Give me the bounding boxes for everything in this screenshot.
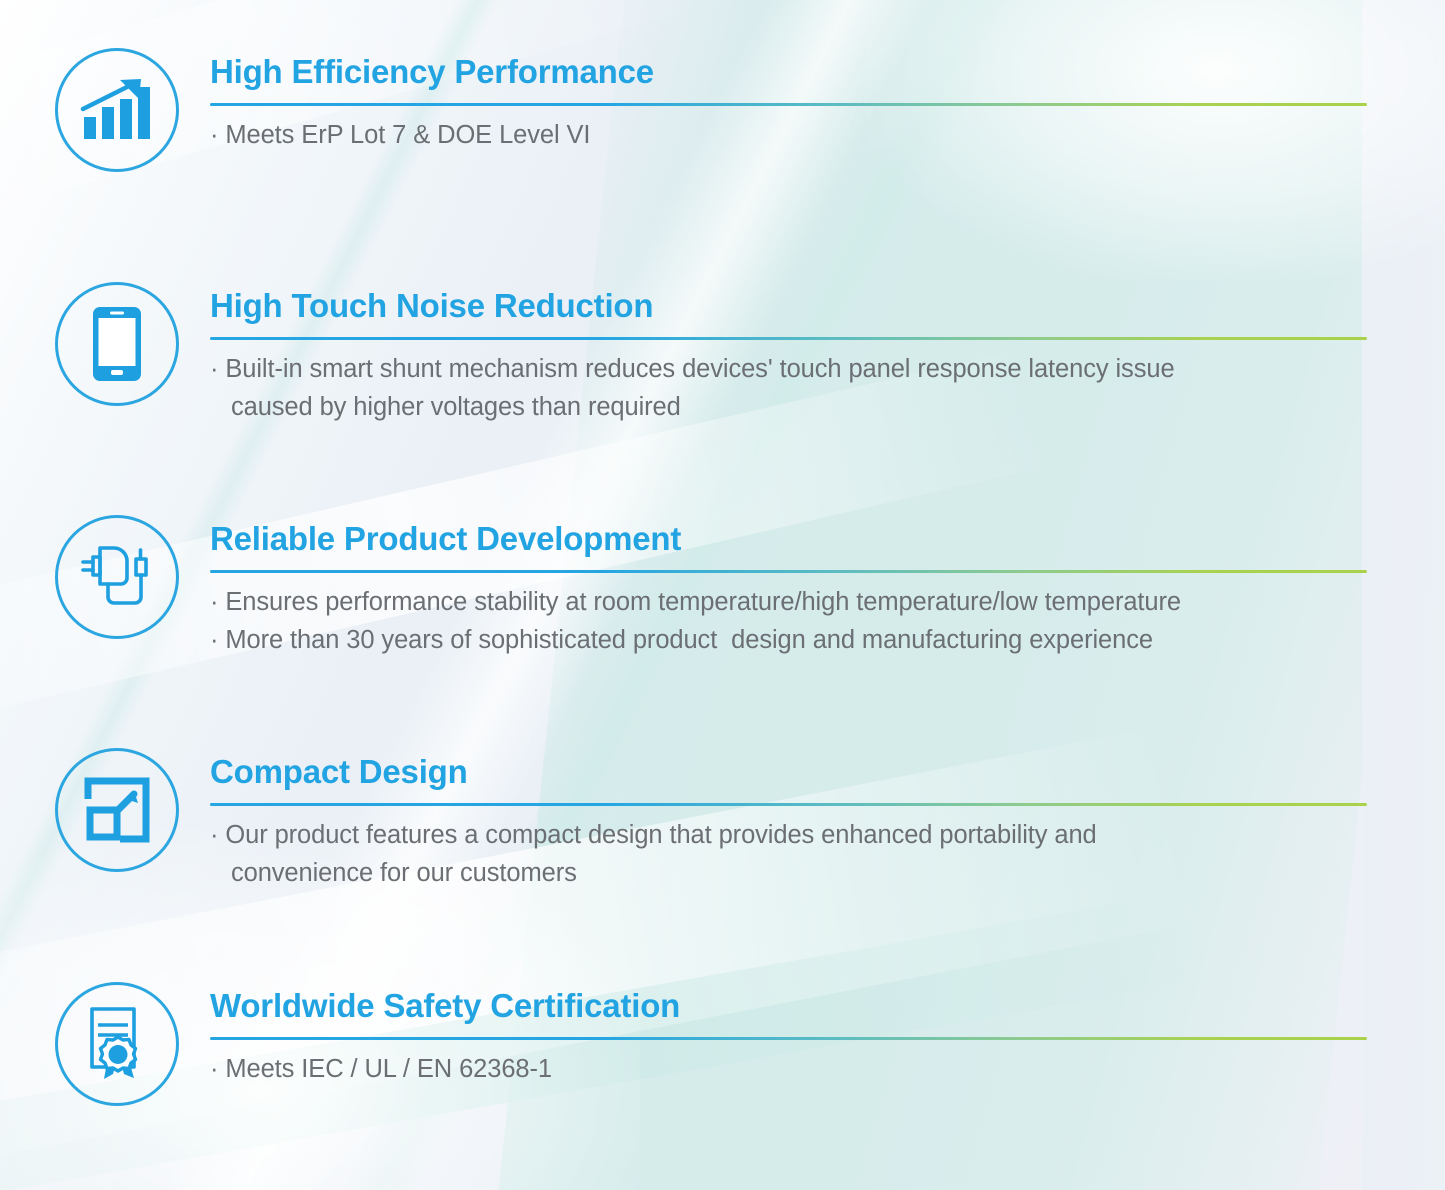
- feature-bullets: · Built-in smart shunt mechanism reduces…: [210, 351, 1367, 427]
- bullet-line: · Meets IEC / UL / EN 62368-1: [210, 1051, 1367, 1089]
- bullet-line: · Meets ErP Lot 7 & DOE Level VI: [210, 117, 1367, 155]
- feature-divider: [210, 570, 1367, 573]
- feature-divider: [210, 337, 1367, 340]
- feature-title: Reliable Product Development: [210, 521, 1367, 558]
- feature-bullets: · Meets ErP Lot 7 & DOE Level VI: [210, 117, 1367, 155]
- feature-item-worldwide-safety-certification: Worldwide Safety Certification · Meets I…: [0, 982, 1445, 1106]
- feature-divider: [210, 803, 1367, 806]
- bullet-line: · Ensures performance stability at room …: [210, 584, 1367, 622]
- smartphone-icon: [55, 282, 179, 406]
- feature-body: Reliable Product Development · Ensures p…: [210, 515, 1445, 660]
- feature-bullets: · Meets IEC / UL / EN 62368-1: [210, 1051, 1367, 1089]
- feature-bullets: · Our product features a compact design …: [210, 817, 1367, 893]
- feature-body: Worldwide Safety Certification · Meets I…: [210, 982, 1445, 1089]
- bullet-line: · More than 30 years of sophisticated pr…: [210, 622, 1367, 660]
- feature-bullets: · Ensures performance stability at room …: [210, 584, 1367, 660]
- feature-item-high-efficiency-performance: High Efficiency Performance · Meets ErP …: [0, 48, 1445, 172]
- feature-title: Worldwide Safety Certification: [210, 988, 1367, 1025]
- feature-divider: [210, 1037, 1367, 1040]
- feature-title: High Efficiency Performance: [210, 54, 1367, 91]
- certificate-seal-icon: [55, 982, 179, 1106]
- feature-body: Compact Design · Our product features a …: [210, 748, 1445, 893]
- feature-item-reliable-product-development: Reliable Product Development · Ensures p…: [0, 515, 1445, 660]
- power-adapter-icon: [55, 515, 179, 639]
- feature-title: Compact Design: [210, 754, 1367, 791]
- feature-list: High Efficiency Performance · Meets ErP …: [0, 0, 1445, 1190]
- feature-item-compact-design: Compact Design · Our product features a …: [0, 748, 1445, 893]
- feature-body: High Efficiency Performance · Meets ErP …: [210, 48, 1445, 155]
- compact-resize-icon: [55, 748, 179, 872]
- feature-item-high-touch-noise-reduction: High Touch Noise Reduction · Built-in sm…: [0, 282, 1445, 427]
- bar-chart-growth-icon: [55, 48, 179, 172]
- feature-title: High Touch Noise Reduction: [210, 288, 1367, 325]
- feature-divider: [210, 103, 1367, 106]
- feature-body: High Touch Noise Reduction · Built-in sm…: [210, 282, 1445, 427]
- bullet-line: · Our product features a compact design …: [210, 817, 1367, 893]
- bullet-line: · Built-in smart shunt mechanism reduces…: [210, 351, 1367, 427]
